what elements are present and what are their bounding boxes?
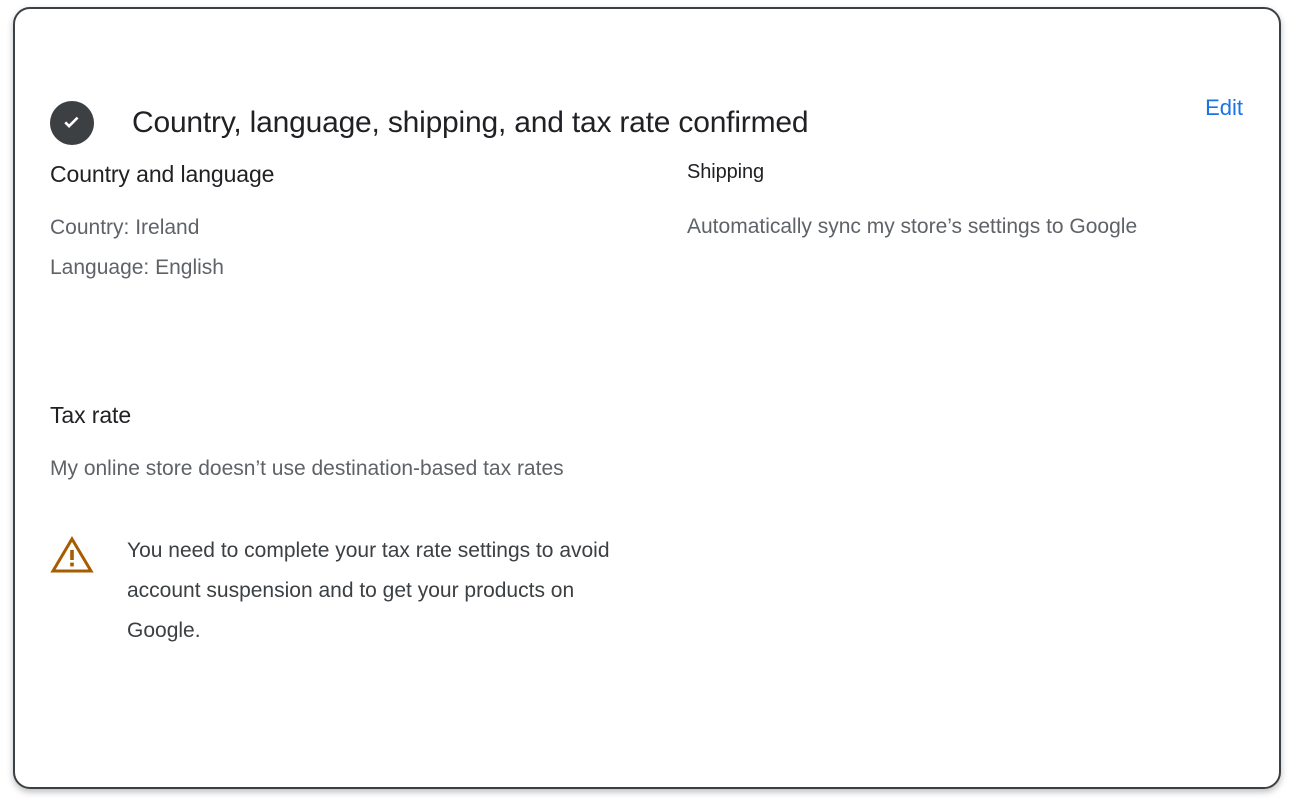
section-tax-rate: Tax rate My online store doesn’t use des… (50, 400, 672, 651)
warning-triangle-icon (50, 535, 96, 575)
card-header: Country, language, shipping, and tax rat… (15, 9, 1279, 159)
card-body: Country and language Country: Ireland La… (15, 159, 1279, 787)
country-value: Country: Ireland (50, 208, 672, 248)
check-circle-icon (50, 101, 94, 145)
language-value: Language: English (50, 248, 672, 288)
card-header-right: Edit (1205, 9, 1279, 121)
left-column: Country and language Country: Ireland La… (50, 159, 672, 651)
right-column: Shipping Automatically sync my store’s s… (672, 159, 1243, 247)
confirmation-card: Country, language, shipping, and tax rat… (13, 7, 1281, 789)
card-header-left: Country, language, shipping, and tax rat… (15, 9, 1205, 162)
tax-rate-warning: You need to complete your tax rate setti… (50, 531, 672, 651)
two-column-layout: Country and language Country: Ireland La… (50, 159, 1243, 651)
tax-rate-heading: Tax rate (50, 400, 672, 430)
shipping-value: Automatically sync my store’s settings t… (687, 206, 1227, 247)
warning-message: You need to complete your tax rate setti… (127, 531, 627, 651)
page-title: Country, language, shipping, and tax rat… (132, 104, 808, 142)
section-shipping: Shipping Automatically sync my store’s s… (687, 159, 1243, 247)
tax-rate-value: My online store doesn’t use destination-… (50, 449, 610, 489)
edit-link[interactable]: Edit (1205, 95, 1243, 120)
screen: Country, language, shipping, and tax rat… (0, 0, 1296, 800)
shipping-heading: Shipping (687, 159, 1243, 185)
section-country-and-language: Country and language Country: Ireland La… (50, 159, 672, 288)
country-language-heading: Country and language (50, 159, 672, 189)
